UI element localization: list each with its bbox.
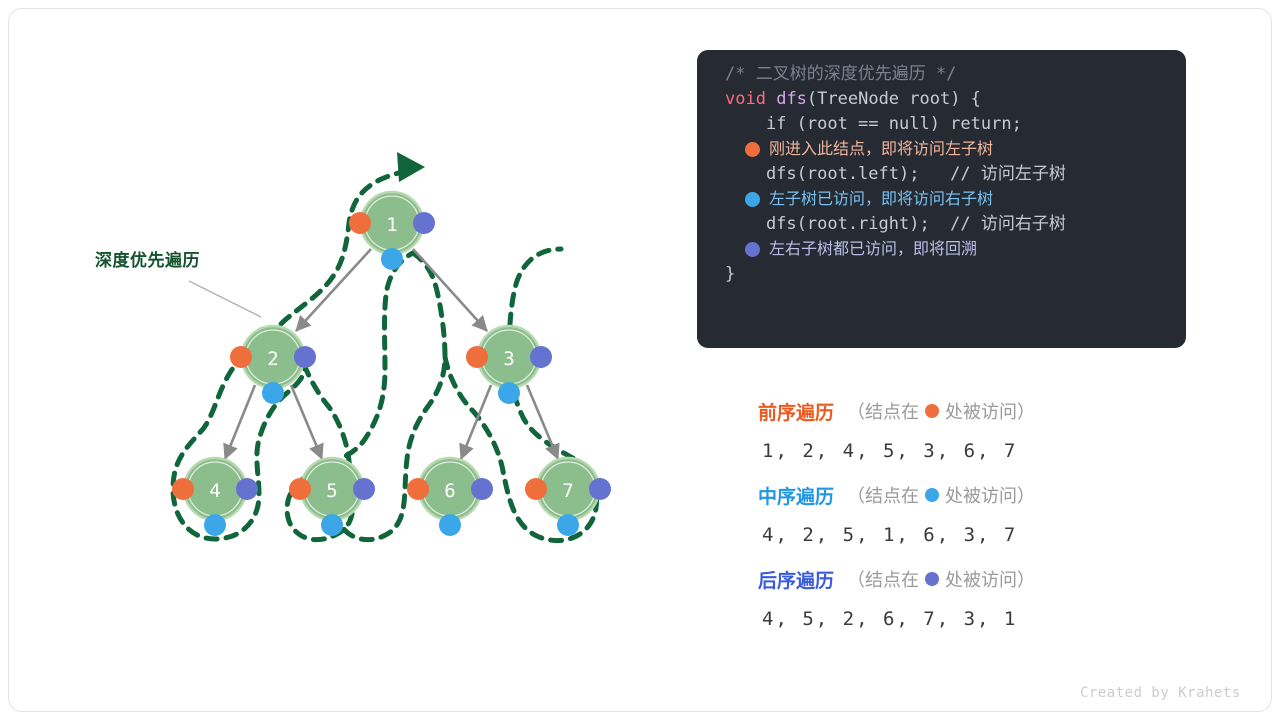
dfs-label: 深度优先遍历: [95, 246, 200, 271]
tree-node-4[interactable]: 4: [172, 458, 258, 536]
edge-2-4: [225, 385, 255, 459]
node-6-inorder-dot: [439, 514, 461, 536]
code-block: /* 二叉树的深度优先遍历 */ void dfs(TreeNode root)…: [697, 50, 1186, 348]
code-annotation-preorder: 刚进入此结点，即将访问左子树: [697, 137, 1186, 162]
traversal-results: 前序遍历 （结点在 处被访问） 1, 2, 4, 5, 3, 6, 7 中序遍历…: [758, 394, 1188, 646]
node-7-postorder-dot: [589, 478, 611, 500]
code-fn-name: dfs: [776, 89, 807, 109]
label-pointer-line: [189, 281, 261, 317]
node-2-preorder-dot: [230, 346, 252, 368]
node-7-inorder-dot: [557, 514, 579, 536]
node-value-7: 7: [562, 480, 573, 502]
code-null-check-line: if (root == null) return;: [697, 112, 1186, 137]
edge-1-3: [413, 249, 487, 331]
node-value-4: 4: [209, 480, 220, 502]
edge-1-2: [296, 249, 371, 331]
node-1-postorder-dot: [413, 212, 435, 234]
binary-tree-diagram: 1 2 3: [9, 9, 689, 713]
diagram-canvas: 1 2 3: [8, 8, 1272, 712]
node-2-inorder-dot: [262, 382, 284, 404]
node-value-6: 6: [444, 480, 455, 502]
node-5-inorder-dot: [321, 514, 343, 536]
node-1-preorder-dot: [349, 212, 371, 234]
inorder-heading: 中序遍历: [758, 482, 834, 509]
tree-node-7[interactable]: 7: [525, 458, 611, 536]
edge-2-5: [291, 385, 322, 459]
postorder-heading-row: 后序遍历 （结点在 处被访问）: [758, 562, 1188, 596]
node-3-preorder-dot: [466, 346, 488, 368]
preorder-heading: 前序遍历: [758, 398, 834, 425]
postorder-dot-icon: [745, 242, 760, 257]
postorder-sequence: 4, 5, 2, 6, 7, 3, 1: [758, 596, 1188, 643]
inorder-note: （结点在 处被访问）: [847, 482, 1035, 508]
node-value-1: 1: [386, 214, 397, 236]
edge-3-6: [461, 385, 491, 459]
code-close-brace-line: }: [697, 262, 1186, 287]
node-value-3: 3: [503, 348, 514, 370]
code-annotation-postorder-text: 左右子树都已访问，即将回溯: [769, 237, 977, 262]
edge-3-7: [527, 385, 558, 459]
inorder-note-prefix: （结点在: [847, 482, 919, 508]
node-6-preorder-dot: [407, 478, 429, 500]
code-keyword-void: void: [725, 89, 766, 109]
code-call-right-line: dfs(root.right); // 访问右子树: [697, 212, 1186, 237]
tree-svg: 1 2 3: [9, 9, 689, 713]
node-5-postorder-dot: [353, 478, 375, 500]
code-annotation-inorder: 左子树已访问，即将访问右子树: [697, 187, 1186, 212]
preorder-note-suffix: 处被访问）: [945, 398, 1035, 424]
tree-node-6[interactable]: 6: [407, 458, 493, 536]
node-2-postorder-dot: [294, 346, 316, 368]
postorder-heading: 后序遍历: [758, 566, 834, 593]
postorder-note: （结点在 处被访问）: [847, 566, 1035, 592]
code-call-left-line: dfs(root.left); // 访问左子树: [697, 162, 1186, 187]
inorder-heading-row: 中序遍历 （结点在 处被访问）: [758, 478, 1188, 512]
result-group-inorder: 中序遍历 （结点在 处被访问） 4, 2, 5, 1, 6, 3, 7: [758, 478, 1188, 559]
postorder-note-dot-icon: [925, 572, 939, 586]
preorder-dot-icon: [745, 142, 760, 157]
node-4-preorder-dot: [172, 478, 194, 500]
node-1-inorder-dot: [381, 248, 403, 270]
node-3-postorder-dot: [530, 346, 552, 368]
inorder-sequence: 4, 2, 5, 1, 6, 3, 7: [758, 512, 1188, 559]
preorder-note: （结点在 处被访问）: [847, 398, 1035, 424]
node-value-2: 2: [267, 348, 278, 370]
inorder-note-suffix: 处被访问）: [945, 482, 1035, 508]
inorder-dot-icon: [745, 192, 760, 207]
preorder-heading-row: 前序遍历 （结点在 处被访问）: [758, 394, 1188, 428]
tree-node-3[interactable]: 3: [466, 326, 552, 404]
play-triangle-icon: [397, 152, 425, 182]
result-group-preorder: 前序遍历 （结点在 处被访问） 1, 2, 4, 5, 3, 6, 7: [758, 394, 1188, 475]
postorder-note-suffix: 处被访问）: [945, 566, 1035, 592]
code-annotation-postorder: 左右子树都已访问，即将回溯: [697, 237, 1186, 262]
node-7-preorder-dot: [525, 478, 547, 500]
node-4-postorder-dot: [236, 478, 258, 500]
code-annotation-inorder-text: 左子树已访问，即将访问右子树: [769, 187, 993, 212]
node-value-5: 5: [326, 480, 337, 502]
code-signature-rest: (TreeNode root) {: [807, 89, 981, 109]
preorder-sequence: 1, 2, 4, 5, 3, 6, 7: [758, 428, 1188, 475]
postorder-note-prefix: （结点在: [847, 566, 919, 592]
node-6-postorder-dot: [471, 478, 493, 500]
node-5-preorder-dot: [289, 478, 311, 500]
preorder-note-prefix: （结点在: [847, 398, 919, 424]
result-group-postorder: 后序遍历 （结点在 处被访问） 4, 5, 2, 6, 7, 3, 1: [758, 562, 1188, 643]
inorder-note-dot-icon: [925, 488, 939, 502]
code-signature-line: void dfs(TreeNode root) {: [697, 87, 1186, 112]
credit-text: Created by Krahets: [1080, 685, 1241, 701]
preorder-note-dot-icon: [925, 404, 939, 418]
tree-node-2[interactable]: 2: [230, 326, 316, 404]
tree-node-5[interactable]: 5: [289, 458, 375, 536]
node-4-inorder-dot: [204, 514, 226, 536]
code-comment-line: /* 二叉树的深度优先遍历 */: [697, 62, 1186, 87]
code-annotation-preorder-text: 刚进入此结点，即将访问左子树: [769, 137, 993, 162]
node-3-inorder-dot: [498, 382, 520, 404]
